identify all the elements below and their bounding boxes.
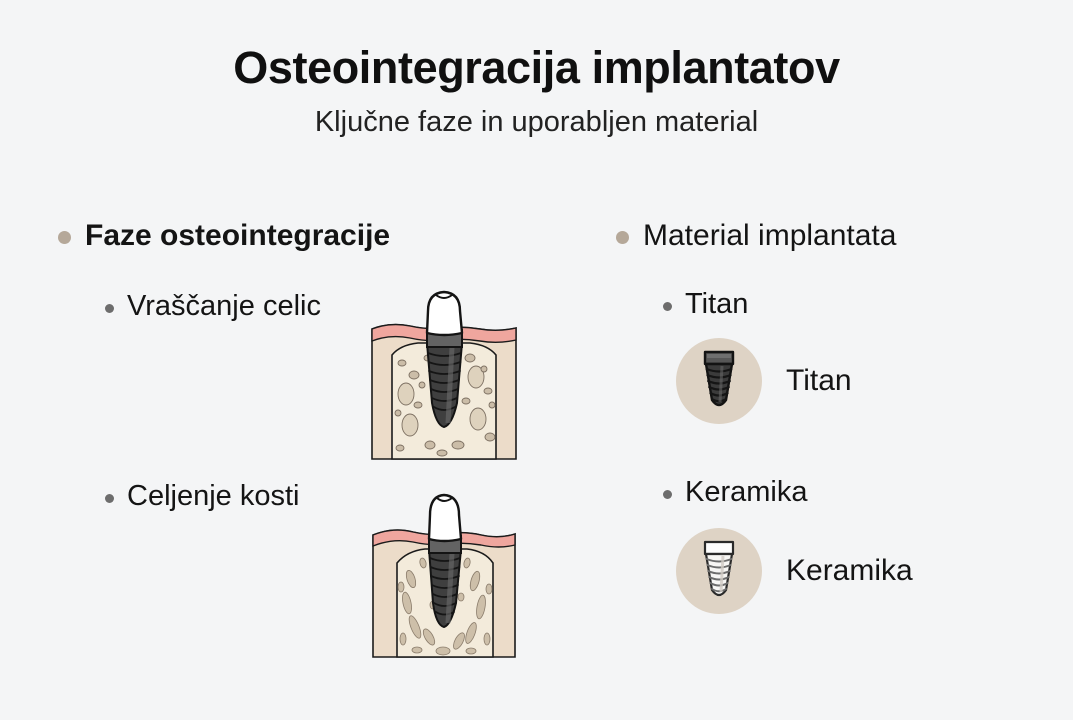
slide-canvas: Osteointegracija implantatov Ključne faz… [0,0,1073,720]
list-item-label: Vraščanje celic [127,290,321,324]
titanium-implant-screw-icon [676,338,762,424]
bullet-dot-icon [663,302,672,311]
right-list-item-2: Keramika [616,476,808,510]
list-item-label: Keramika [685,476,808,510]
list-item-label: Titan [685,288,748,322]
material-chip-titanium: Titan [616,338,852,424]
material-chip-ceramic: Keramika [616,528,913,614]
material-chip-label: Titan [786,364,852,398]
material-chip-label: Keramika [786,554,913,588]
page-title: Osteointegracija implantatov [0,44,1073,93]
dental-implant-cross-section-icon [371,487,517,664]
left-list-item-2: Celjenje kosti [58,480,299,514]
right-column-heading-row: Material implantata [616,218,1066,253]
bullet-dot-icon [58,231,71,244]
bullet-dot-icon [663,490,672,499]
page-subtitle: Ključne faze in uporabljen material [0,107,1073,139]
bullet-dot-icon [105,304,114,313]
right-column: Material implantata Titan [616,218,1066,253]
bullet-dot-icon [616,231,629,244]
list-item-label: Celjenje kosti [127,480,299,514]
left-column-heading-row: Faze osteointegracije [58,218,578,253]
left-column-heading: Faze osteointegracije [85,218,390,253]
right-column-heading: Material implantata [643,218,896,253]
left-column: Faze osteointegracije Vraščanje celic Ce… [58,218,578,253]
bullet-dot-icon [105,494,114,503]
ceramic-implant-screw-icon [676,528,762,614]
left-list-item-1: Vraščanje celic [58,290,321,324]
dental-implant-cross-section-icon [370,285,518,466]
right-list-item-1: Titan [616,288,748,322]
slide-header: Osteointegracija implantatov Ključne faz… [0,44,1073,138]
